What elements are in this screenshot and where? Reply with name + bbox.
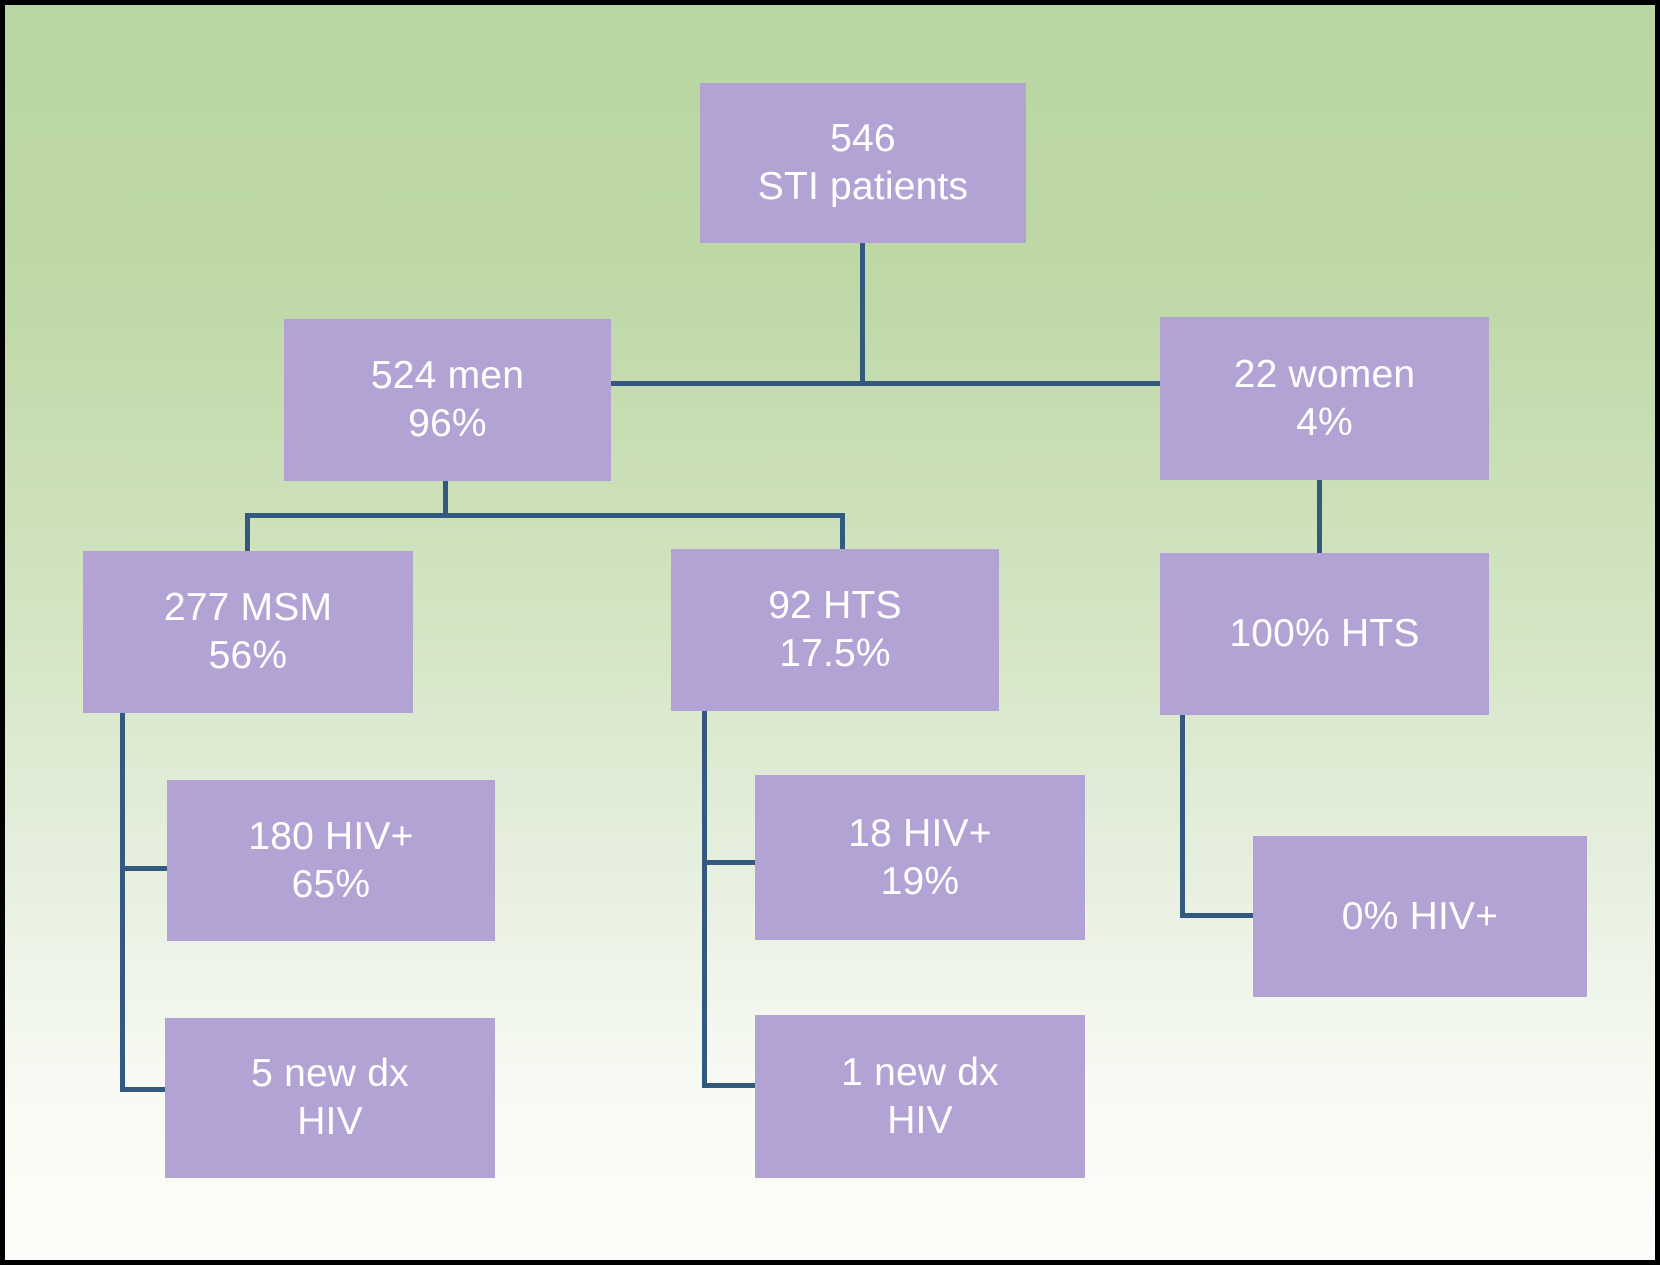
node-women-line1: 22 women	[1234, 351, 1416, 399]
connector-root-down	[860, 240, 865, 385]
node-root-line1: 546	[830, 115, 896, 163]
node-msm-line1: 277 MSM	[164, 584, 332, 632]
connector-hts-men-drop	[840, 513, 845, 553]
node-hts-women[interactable]: 100% HTS	[1160, 553, 1489, 715]
node-women-hiv-pos[interactable]: 0% HIV+	[1253, 836, 1587, 997]
node-hts-new-dx-line1: 1 new dx	[841, 1049, 999, 1097]
connector-level1-bus	[607, 381, 1163, 386]
connector-msm-stub-hivpos	[120, 866, 173, 871]
connector-htswomen-stub-hivpos	[1180, 913, 1255, 918]
node-root[interactable]: 546 STI patients	[700, 83, 1026, 243]
node-root-line2: STI patients	[758, 163, 969, 211]
node-msm-new-dx[interactable]: 5 new dx HIV	[165, 1018, 495, 1178]
connector-men-down	[443, 477, 448, 517]
node-msm-new-dx-line1: 5 new dx	[251, 1050, 409, 1098]
node-men[interactable]: 524 men 96%	[284, 319, 611, 481]
node-hts-men-line2: 17.5%	[779, 630, 891, 678]
node-msm-line2: 56%	[209, 632, 288, 680]
flowchart-canvas: 546 STI patients 524 men 96% 22 women 4%…	[0, 0, 1660, 1265]
node-men-line2: 96%	[408, 400, 487, 448]
node-msm-hiv-pos[interactable]: 180 HIV+ 65%	[167, 780, 495, 941]
node-msm-hiv-pos-line2: 65%	[292, 861, 371, 909]
node-hts-men-line1: 92 HTS	[768, 582, 901, 630]
node-hts-hiv-pos[interactable]: 18 HIV+ 19%	[755, 775, 1085, 940]
node-women[interactable]: 22 women 4%	[1160, 317, 1489, 480]
connector-hts-stub-hivpos	[702, 860, 757, 865]
connector-msm-drop	[245, 513, 250, 553]
node-hts-men[interactable]: 92 HTS 17.5%	[671, 549, 999, 711]
node-hts-women-line1: 100% HTS	[1229, 610, 1419, 658]
node-msm-hiv-pos-line1: 180 HIV+	[248, 813, 413, 861]
node-women-hiv-pos-line1: 0% HIV+	[1342, 893, 1498, 941]
node-msm-new-dx-line2: HIV	[297, 1098, 363, 1146]
node-msm[interactable]: 277 MSM 56%	[83, 551, 413, 713]
node-hts-hiv-pos-line1: 18 HIV+	[848, 810, 991, 858]
node-men-line1: 524 men	[371, 352, 524, 400]
node-hts-new-dx-line2: HIV	[887, 1097, 953, 1145]
node-hts-new-dx[interactable]: 1 new dx HIV	[755, 1015, 1085, 1178]
connector-level2-bus-men	[245, 513, 845, 518]
node-hts-hiv-pos-line2: 19%	[881, 858, 960, 906]
node-women-line2: 4%	[1296, 399, 1353, 447]
connector-hts-trunk	[702, 708, 707, 1088]
connector-hts-stub-newdx	[702, 1083, 757, 1088]
connector-htswomen-trunk	[1180, 713, 1185, 918]
connector-msm-trunk	[120, 712, 125, 1092]
connector-women-down	[1317, 477, 1322, 555]
